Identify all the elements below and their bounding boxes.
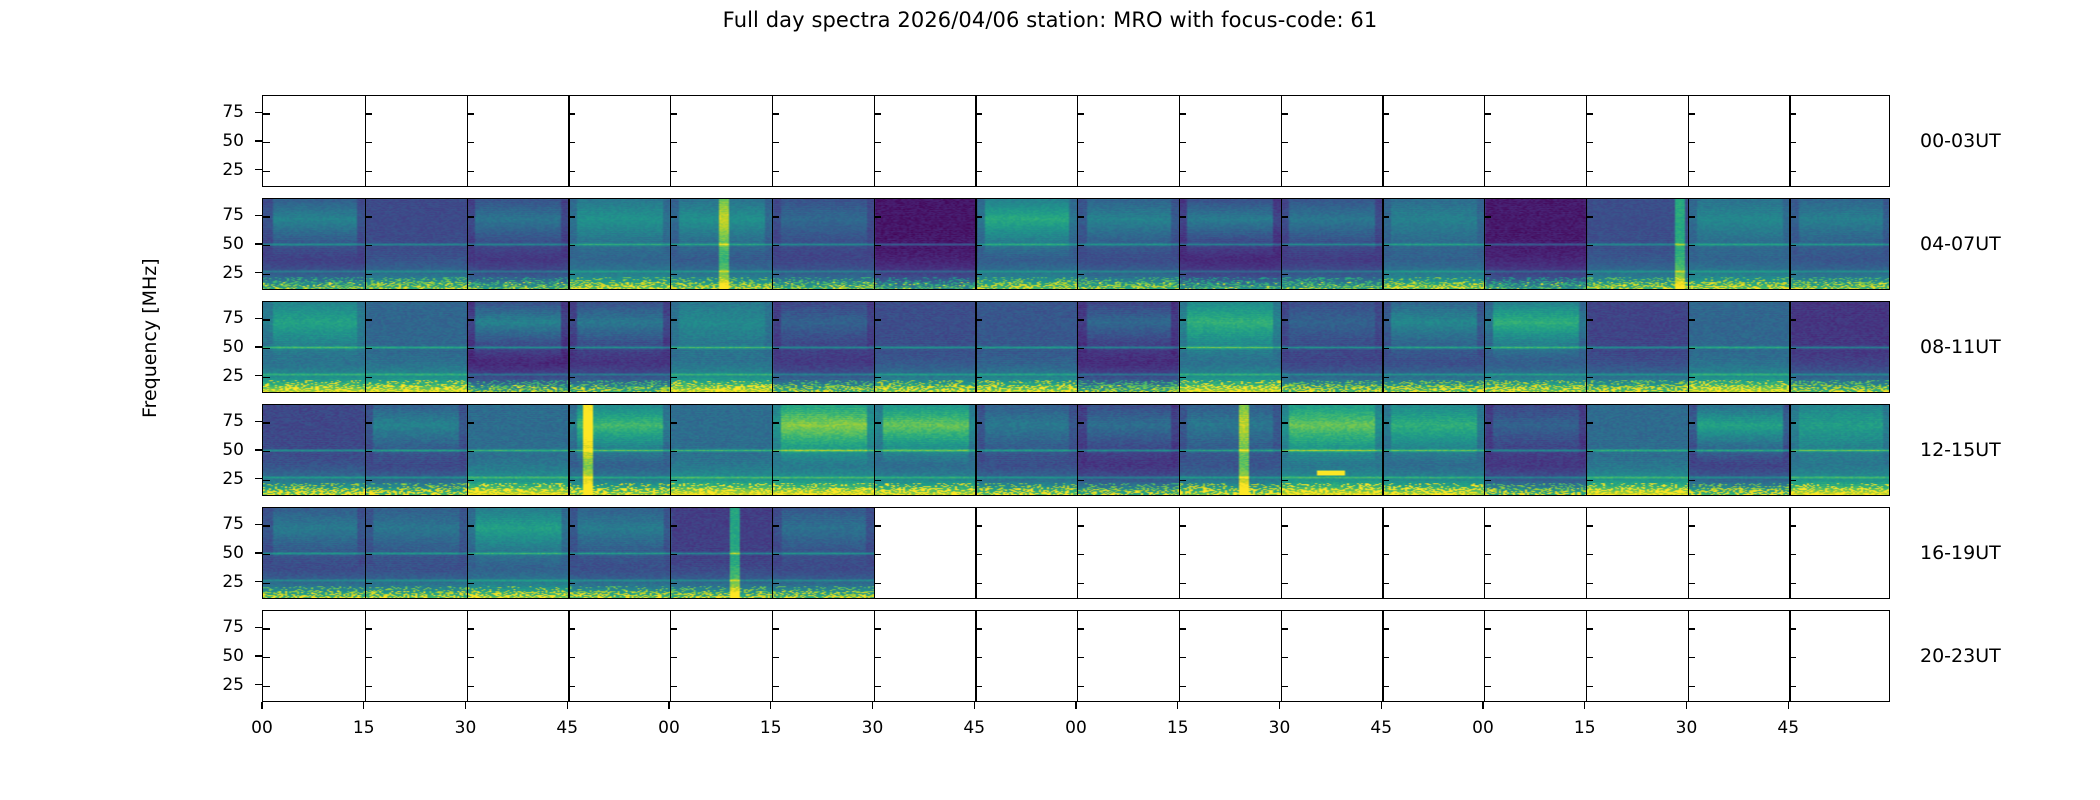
y-tick-mark [263,274,270,275]
row-label-16-19ut: 16-19UT [1920,542,2001,564]
panel-separator [1484,302,1485,392]
y-tick-mark [263,686,270,687]
y-tick-mark [1281,554,1288,555]
y-tick-mark [772,628,779,629]
y-tick-mark [365,216,372,217]
y-tick-mark [1688,628,1695,629]
y-tick-mark [1586,171,1593,172]
panel-separator [1382,611,1383,701]
y-tick-mark [1586,319,1593,320]
y-tick-mark [1586,113,1593,114]
y-tick-mark [1586,274,1593,275]
y-tick-mark [1179,274,1186,275]
panel-separator [467,508,468,598]
y-tick-mark [1586,377,1593,378]
y-tick-mark [365,171,372,172]
y-axis-label: Frequency [MHz] [139,388,161,418]
y-tick-mark [1281,171,1288,172]
y-tick-mark [1281,422,1288,423]
y-tick-mark [255,552,262,553]
y-tick-mark [1688,216,1695,217]
y-tick-mark [467,216,474,217]
y-tick-mark [365,113,372,114]
y-tick-mark [670,525,677,526]
y-tick-mark [1484,686,1491,687]
y-tick-mark [1586,348,1593,349]
y-tick-mark [568,348,575,349]
y-tick-mark [975,274,982,275]
y-tick-mark [1077,451,1084,452]
y-tick-mark [467,348,474,349]
y-tick-mark [255,215,262,216]
y-tick-mark [467,525,474,526]
y-tick-mark [568,525,575,526]
y-tick-mark [467,686,474,687]
y-tick-mark [365,628,372,629]
panel-separator [1179,611,1180,701]
y-tick-mark [1077,216,1084,217]
y-tick-mark [255,243,262,244]
y-tick-label: 50 [184,440,244,460]
figure-title: Full day spectra 2026/04/06 station: MRO… [0,8,2100,32]
x-tick-mark [465,702,466,709]
panel-separator [772,199,773,289]
x-tick-mark [1686,702,1687,709]
y-tick-mark [1586,525,1593,526]
y-tick-mark [1484,657,1491,658]
panel-separator [365,302,366,392]
y-tick-mark [1484,348,1491,349]
y-tick-mark [1484,480,1491,481]
y-tick-mark [1179,628,1186,629]
y-tick-mark [1281,628,1288,629]
panel-separator [975,302,976,392]
y-tick-mark [1789,319,1796,320]
y-tick-mark [975,554,982,555]
y-tick-mark [670,451,677,452]
panel-separator [568,199,569,289]
x-tick-mark [567,702,568,709]
y-tick-mark [1077,628,1084,629]
x-tick-mark [1788,702,1789,709]
y-tick-mark [1688,142,1695,143]
y-tick-mark [975,583,982,584]
y-tick-mark [255,449,262,450]
panel-separator [1077,96,1078,186]
y-tick-mark [670,628,677,629]
y-tick-mark [1484,583,1491,584]
x-tick-label: 15 [1555,718,1615,738]
y-tick-mark [1586,245,1593,246]
y-tick-mark [1382,480,1389,481]
y-tick-mark [467,583,474,584]
x-tick-mark [1177,702,1178,709]
y-tick-mark [467,554,474,555]
y-tick-mark [1179,686,1186,687]
y-tick-mark [1179,657,1186,658]
y-tick-label: 75 [184,514,244,534]
panel-separator [874,96,875,186]
y-tick-mark [1484,628,1491,629]
y-tick-mark [772,348,779,349]
panel-separator [1789,508,1790,598]
y-tick-mark [975,480,982,481]
y-tick-mark [975,113,982,114]
y-tick-mark [1179,348,1186,349]
row-label-12-15ut: 12-15UT [1920,439,2001,461]
y-tick-mark [1281,583,1288,584]
panel-separator [975,96,976,186]
x-tick-mark [668,702,669,709]
y-tick-mark [1789,525,1796,526]
y-tick-mark [1484,171,1491,172]
y-tick-mark [874,480,881,481]
y-tick-mark [1789,216,1796,217]
y-tick-mark [255,581,262,582]
y-tick-mark [365,451,372,452]
y-tick-mark [467,142,474,143]
panel-separator [975,508,976,598]
y-tick-mark [874,422,881,423]
y-tick-mark [975,525,982,526]
y-tick-mark [365,142,372,143]
y-tick-label: 50 [184,337,244,357]
panel-separator [772,508,773,598]
panel-separator [1688,405,1689,495]
y-tick-mark [1281,657,1288,658]
y-tick-mark [772,319,779,320]
panel-separator [1382,508,1383,598]
y-tick-mark [263,583,270,584]
panel-separator [1077,508,1078,598]
y-tick-mark [1688,451,1695,452]
y-tick-mark [1077,348,1084,349]
y-tick-mark [1281,274,1288,275]
y-tick-mark [975,628,982,629]
y-tick-mark [1077,377,1084,378]
y-tick-mark [263,628,270,629]
y-tick-mark [1179,142,1186,143]
y-tick-label: 75 [184,308,244,328]
y-tick-label: 25 [184,675,244,695]
panel-separator [1484,199,1485,289]
panel-separator [365,611,366,701]
y-tick-mark [1688,274,1695,275]
panel-separator [772,302,773,392]
x-tick-mark [1584,702,1585,709]
panel-separator [874,508,875,598]
panel-separator [975,405,976,495]
row-label-00-03ut: 00-03UT [1920,130,2001,152]
y-tick-mark [975,377,982,378]
y-tick-mark [1484,554,1491,555]
y-tick-mark [670,319,677,320]
y-tick-mark [1382,525,1389,526]
spectrogram-row-12-15ut[interactable] [262,404,1890,496]
panel-separator [670,96,671,186]
y-tick-mark [1484,319,1491,320]
panel-separator [568,96,569,186]
y-tick-mark [1484,525,1491,526]
y-tick-mark [1281,142,1288,143]
y-tick-label: 50 [184,646,244,666]
panel-separator [1281,508,1282,598]
y-tick-mark [255,318,262,319]
panel-separator [365,96,366,186]
y-tick-mark [255,627,262,628]
y-tick-mark [874,245,881,246]
panel-separator [1077,199,1078,289]
spectrogram-row-04-07ut[interactable] [262,198,1890,290]
y-tick-mark [1281,216,1288,217]
y-tick-mark [874,216,881,217]
y-tick-mark [1484,142,1491,143]
y-tick-mark [1077,525,1084,526]
y-tick-label: 50 [184,131,244,151]
y-tick-mark [1281,686,1288,687]
y-tick-mark [467,171,474,172]
y-tick-mark [670,245,677,246]
panel-separator [1586,405,1587,495]
panel-separator [1789,405,1790,495]
y-tick-mark [467,377,474,378]
panel-separator [467,302,468,392]
y-tick-mark [365,525,372,526]
y-tick-mark [1382,274,1389,275]
y-tick-mark [467,274,474,275]
y-tick-mark [772,480,779,481]
y-tick-mark [263,245,270,246]
y-tick-mark [1077,245,1084,246]
y-tick-mark [1281,348,1288,349]
y-tick-mark [874,377,881,378]
y-tick-mark [263,451,270,452]
y-tick-mark [1688,422,1695,423]
y-tick-mark [263,348,270,349]
y-tick-mark [255,140,262,141]
panel-separator [467,199,468,289]
y-tick-mark [670,171,677,172]
y-tick-mark [365,422,372,423]
x-tick-mark [261,702,262,709]
y-tick-mark [975,348,982,349]
y-tick-mark [568,480,575,481]
y-tick-mark [1382,422,1389,423]
panel-separator [1688,96,1689,186]
y-tick-mark [1077,583,1084,584]
y-tick-mark [1077,274,1084,275]
x-tick-label: 00 [232,718,292,738]
y-tick-label: 75 [184,205,244,225]
y-tick-mark [568,274,575,275]
y-tick-label: 25 [184,263,244,283]
y-tick-mark [1586,583,1593,584]
y-tick-label: 50 [184,234,244,254]
y-tick-mark [255,375,262,376]
y-tick-mark [263,171,270,172]
y-tick-mark [263,525,270,526]
y-tick-mark [365,245,372,246]
panel-separator [1281,302,1282,392]
panel-separator [670,611,671,701]
y-tick-mark [1382,554,1389,555]
y-tick-label: 25 [184,469,244,489]
y-tick-mark [975,171,982,172]
y-tick-mark [874,686,881,687]
y-tick-mark [568,628,575,629]
y-tick-mark [263,480,270,481]
y-tick-mark [1382,319,1389,320]
y-tick-mark [1179,319,1186,320]
y-tick-mark [1688,525,1695,526]
y-tick-label: 75 [184,617,244,637]
panel-separator [1484,508,1485,598]
y-tick-mark [255,478,262,479]
y-tick-mark [568,422,575,423]
y-tick-mark [1179,525,1186,526]
y-tick-mark [1789,657,1796,658]
panel-separator [1586,302,1587,392]
x-tick-mark [1482,702,1483,709]
y-tick-mark [670,554,677,555]
y-tick-label: 50 [184,543,244,563]
y-tick-label: 75 [184,411,244,431]
y-tick-mark [670,274,677,275]
panel-separator [975,611,976,701]
y-tick-mark [1789,628,1796,629]
y-tick-mark [670,142,677,143]
y-tick-mark [568,171,575,172]
panel-separator [670,199,671,289]
y-tick-mark [874,451,881,452]
x-tick-mark [872,702,873,709]
spectrogram-row-08-11ut[interactable] [262,301,1890,393]
x-tick-mark [1279,702,1280,709]
y-tick-mark [568,113,575,114]
y-tick-mark [1179,171,1186,172]
panel-separator [1077,302,1078,392]
y-tick-mark [1382,583,1389,584]
y-tick-mark [1688,554,1695,555]
y-tick-mark [772,657,779,658]
y-tick-mark [1789,377,1796,378]
figure-canvas: Full day spectra 2026/04/06 station: MRO… [0,0,2100,800]
y-tick-mark [365,657,372,658]
x-tick-mark [1075,702,1076,709]
x-tick-mark [770,702,771,709]
y-tick-mark [670,113,677,114]
y-tick-mark [1586,480,1593,481]
y-tick-mark [772,377,779,378]
y-tick-mark [1586,216,1593,217]
y-tick-mark [1789,113,1796,114]
y-tick-mark [1077,657,1084,658]
y-tick-mark [1281,113,1288,114]
spectrogram-row-20-23ut[interactable] [262,610,1890,702]
spectrogram-row-16-19ut[interactable] [262,507,1890,599]
y-tick-mark [1688,377,1695,378]
y-tick-mark [1281,451,1288,452]
x-tick-label: 00 [639,718,699,738]
panel-separator [568,508,569,598]
y-tick-mark [568,319,575,320]
panel-separator [467,96,468,186]
y-tick-mark [670,657,677,658]
y-tick-mark [1382,628,1389,629]
y-tick-mark [874,142,881,143]
y-tick-mark [670,216,677,217]
y-tick-mark [1281,245,1288,246]
y-tick-mark [365,686,372,687]
y-tick-mark [467,319,474,320]
y-tick-mark [772,525,779,526]
y-tick-mark [670,686,677,687]
y-tick-mark [1789,554,1796,555]
y-tick-mark [568,583,575,584]
y-tick-mark [1586,451,1593,452]
y-tick-mark [255,524,262,525]
y-tick-mark [1586,657,1593,658]
y-tick-mark [1789,274,1796,275]
y-tick-mark [1179,480,1186,481]
y-tick-mark [255,346,262,347]
panel-separator [1382,302,1383,392]
panel-separator [1688,508,1689,598]
y-tick-mark [1179,377,1186,378]
y-tick-mark [1382,245,1389,246]
spectrogram-row-00-03ut[interactable] [262,95,1890,187]
y-tick-label: 25 [184,572,244,592]
panel-separator [1179,508,1180,598]
y-tick-mark [772,113,779,114]
panel-separator [1789,611,1790,701]
y-tick-mark [568,142,575,143]
y-tick-mark [1382,171,1389,172]
y-tick-mark [1281,319,1288,320]
panel-separator [772,96,773,186]
y-tick-mark [1281,480,1288,481]
y-tick-mark [1688,657,1695,658]
y-tick-mark [1688,245,1695,246]
panel-separator [1281,199,1282,289]
y-tick-mark [1789,348,1796,349]
y-tick-mark [255,112,262,113]
panel-separator [1586,508,1587,598]
y-tick-mark [365,583,372,584]
y-tick-mark [772,686,779,687]
y-tick-mark [975,142,982,143]
y-tick-label: 25 [184,160,244,180]
panel-separator [1179,302,1180,392]
panel-separator [1789,96,1790,186]
x-tick-label: 30 [436,718,496,738]
y-tick-mark [975,216,982,217]
y-tick-mark [568,216,575,217]
y-tick-mark [1688,583,1695,584]
y-tick-mark [772,274,779,275]
y-tick-mark [1586,142,1593,143]
panel-separator [874,199,875,289]
panel-separator [568,405,569,495]
y-tick-mark [1586,628,1593,629]
y-tick-mark [874,583,881,584]
y-tick-mark [772,171,779,172]
panel-separator [1484,611,1485,701]
y-tick-mark [1077,686,1084,687]
y-tick-mark [1484,451,1491,452]
x-tick-mark [974,702,975,709]
y-tick-mark [568,377,575,378]
